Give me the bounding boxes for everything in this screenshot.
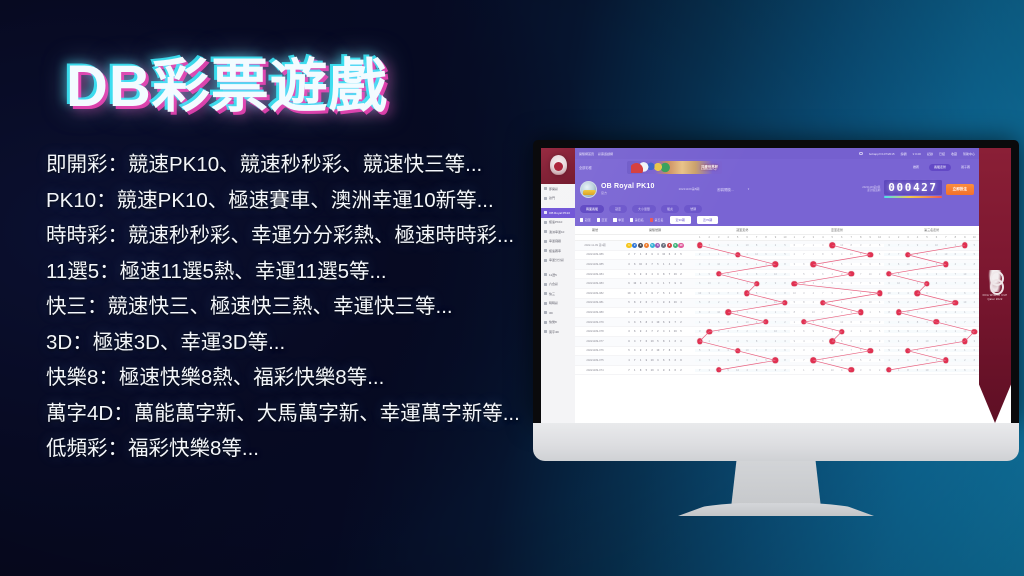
checkbox-icon [597, 218, 600, 221]
trend-cell: 3 [837, 359, 846, 362]
nav-link-favorites[interactable]: 收藏 [951, 152, 957, 156]
monitor-bezel: 即開彩熱門OB Royal PK10極速PK10澳洲幸運10幸運飛艇極速賽車幸運… [533, 140, 1019, 423]
filter-checkbox-0[interactable]: 冠軍 [580, 218, 591, 222]
lottery-ball: 2 [644, 262, 649, 267]
subcolumn-header: 8 [856, 236, 865, 239]
lottery-ball: 4 [632, 339, 637, 344]
trend-cell: 1 [761, 340, 770, 343]
trend-cell: 2 [742, 330, 751, 333]
brand-logo-icon [550, 155, 567, 175]
list-item: 低頻彩：福彩快樂8等... [46, 439, 600, 460]
trend-cell: 4 [828, 273, 837, 276]
trend-cell: 4 [809, 292, 818, 295]
lottery-ball: 5 [661, 291, 666, 296]
trend-hit-marker: 3 [951, 301, 960, 304]
trend-cell: 3 [875, 340, 884, 343]
lottery-ball: 7 [638, 339, 643, 344]
trend-cell: 5 [837, 340, 846, 343]
trend-cell: 7 [704, 359, 713, 362]
trend-table[interactable]: 期號 開獎號碼 冠軍走勢 亞軍走勢 第三名走勢 12345678910 1234… [575, 226, 979, 423]
trend-cell: 9 [771, 282, 780, 285]
trend-cell: 10 [903, 263, 912, 266]
lottery-ball: 2 [638, 300, 643, 305]
sidebar-brand[interactable] [541, 148, 575, 184]
top-navigation-bar[interactable]: 開獎網首頁 彩票遊戲網 bobapp7c107/2015 餘額 ¥ 0.00 記… [575, 148, 979, 159]
trend-cell: 8 [780, 282, 789, 285]
sidebar-item-label: 極速PK10 [549, 220, 562, 224]
sidebar-item-13[interactable]: 快樂8 [541, 318, 575, 328]
filter-checkbox-4[interactable]: 第五名 [650, 218, 664, 222]
lottery-ball: 1 [667, 339, 672, 344]
sidebar-item-label: 快三 [549, 292, 555, 296]
trend-cell: 8 [818, 253, 827, 256]
trend-cell: 9 [723, 244, 732, 247]
sidebar-item-label: 熱門 [549, 196, 555, 200]
table-row[interactable]: 20221109-0862718941063527189410635271894… [575, 251, 979, 261]
lottery-ball: 1 [667, 329, 672, 334]
trend-cell: 5 [932, 263, 941, 266]
trend-cell: 10 [828, 369, 837, 372]
trend-cell: 10 [733, 359, 742, 362]
trend-cell: 10 [799, 282, 808, 285]
sidebar-item-12[interactable]: 3D [541, 308, 575, 318]
cell-draw-numbers: 27189410635 [615, 252, 695, 257]
table-row[interactable]: 20221109-0853610275149836102751498361027… [575, 260, 979, 270]
trend-cell: 5 [828, 282, 837, 285]
trend-cell: 5 [780, 244, 789, 247]
sidebar-item-3[interactable]: 極速PK10 [541, 218, 575, 228]
game-name: OB Royal PK10 [601, 183, 655, 190]
cell-period: 20221109-085 [575, 263, 615, 266]
trend-cell: 2 [970, 273, 979, 276]
nav-link-record[interactable]: 記錄 [927, 152, 933, 156]
lottery-ball: 6 [661, 319, 666, 324]
worldcup-side-banner[interactable]: FIFA WORLD CUP Qatar 2022 [979, 148, 1011, 423]
cell-period: 20221109-079 [575, 321, 615, 324]
trend-cell: 7 [723, 292, 732, 295]
trend-cell: 9 [913, 244, 922, 247]
column-header-group-3: 第三名走勢 [884, 228, 979, 232]
sidebar-item-9[interactable]: 六合彩 [541, 280, 575, 290]
tab-dragon-trend[interactable]: 長龍走勢 [929, 164, 951, 171]
sidebar-item-11[interactable]: 時時彩 [541, 299, 575, 309]
subcolumn-header: 1 [790, 236, 799, 239]
lottery-ball: 6 [661, 358, 666, 363]
sidebar-item-7[interactable]: 幸運分分彩 [541, 256, 575, 266]
trend-group-0: 53942107816 [695, 349, 790, 352]
position-filter-row[interactable]: 冠軍亞軍季軍第四名第五名近30期近70期 [575, 214, 979, 226]
column-header-numbers: 開獎號碼 [615, 228, 695, 232]
nav-link-help[interactable]: 幫助中心 [963, 152, 975, 156]
sidebar-item-4[interactable]: 澳洲幸運10 [541, 227, 575, 237]
trend-cell: 8 [856, 349, 865, 352]
trend-cell: 5 [951, 359, 960, 362]
trend-group-2: 27189410635 [884, 253, 979, 256]
app-sidebar[interactable]: 即開彩熱門OB Royal PK10極速PK10澳洲幸運10幸運飛艇極速賽車幸運… [541, 148, 575, 423]
trend-hit-marker: 8 [846, 273, 855, 276]
trend-cell: 6 [723, 340, 732, 343]
lottery-ball: 2 [678, 271, 683, 276]
lottery-ball: 6 [644, 271, 649, 276]
trend-hit-marker: 8 [714, 369, 723, 372]
tab-recommend[interactable]: 推薦 [908, 164, 924, 171]
trend-cell: 5 [790, 301, 799, 304]
trend-cell: 4 [742, 282, 751, 285]
column-header-group-1: 冠軍走勢 [695, 228, 790, 232]
trend-cell: 6 [695, 282, 704, 285]
table-row[interactable]: 20221109-0815826719310458267193104582671… [575, 299, 979, 309]
cell-period: 20221109-075 [575, 359, 615, 362]
trend-hit-marker: 8 [875, 292, 884, 295]
trend-cell: 5 [970, 311, 979, 314]
sidebar-item-icon [544, 273, 547, 276]
all-games-menu[interactable]: 全部彩種 [579, 165, 592, 170]
subheader-group-3: 12345678910 [884, 236, 979, 239]
trend-cell: 4 [951, 311, 960, 314]
filter-checkbox-3[interactable]: 第四名 [630, 218, 644, 222]
trend-cell: 10 [742, 321, 751, 324]
sidebar-item-6[interactable]: 極速賽車 [541, 246, 575, 256]
trend-cell: 5 [970, 244, 979, 247]
sidebar-item-label: 幸運分分彩 [549, 258, 564, 262]
cell-draw-numbers: 94761058123 [615, 339, 695, 344]
lottery-ball: 6 [644, 339, 649, 344]
trend-cell: 10 [714, 311, 723, 314]
trend-cell: 1 [846, 282, 855, 285]
sidebar-item-14[interactable]: 萬字4D [541, 327, 575, 337]
trend-cell: 3 [761, 369, 770, 372]
trend-cell: 3 [695, 330, 704, 333]
lottery-ball: 10 [673, 329, 678, 334]
sidebar-item-list[interactable]: 即開彩熱門OB Royal PK10極速PK10澳洲幸運10幸運飛艇極速賽車幸運… [541, 184, 575, 337]
promo-tabs[interactable]: 推薦 長龍走勢 親子賽 [908, 164, 975, 171]
sidebar-item-label: 11選5 [549, 273, 557, 277]
trend-cell: 10 [922, 359, 931, 362]
table-row[interactable]: 20221109-0791358410697213584106972135841… [575, 318, 979, 328]
trend-cell: 6 [752, 359, 761, 362]
sidebar-item-icon [544, 292, 547, 295]
trend-cell: 6 [865, 369, 874, 372]
trend-cell: 1 [790, 273, 799, 276]
trend-cell: 3 [884, 263, 893, 266]
trend-cell: 1 [960, 349, 969, 352]
sidebar-item-label: 即開彩 [549, 187, 558, 191]
trend-cell: 7 [828, 263, 837, 266]
lottery-ball: 3 [655, 310, 660, 315]
trend-cell: 4 [742, 253, 751, 256]
lottery-ball: 1 [661, 281, 666, 286]
sidebar-item-label: 極速賽車 [549, 249, 561, 253]
lottery-ball: 3 [655, 358, 660, 363]
trend-cell: 5 [875, 330, 884, 333]
lottery-ball: 10 [655, 348, 660, 353]
subcolumn-header: 10 [780, 236, 789, 239]
trend-cell: 5 [875, 244, 884, 247]
lottery-ball: 7 [632, 252, 637, 257]
trend-hit-marker: 2 [894, 311, 903, 314]
cell-draw-numbers: 71851049362 [615, 367, 695, 372]
subcolumn-header: 9 [960, 236, 969, 239]
trend-cell: 9 [941, 311, 950, 314]
trend-group-2: 13584106972 [884, 321, 979, 324]
trend-cell: 3 [951, 244, 960, 247]
lottery-ball: 8 [667, 348, 672, 353]
nav-link-home[interactable]: 開獎網首頁 [579, 152, 594, 156]
sidebar-item-8[interactable]: 11選5 [541, 270, 575, 280]
trend-cell: 8 [941, 340, 950, 343]
lottery-ball: 4 [650, 271, 655, 276]
trend-cell: 10 [941, 253, 950, 256]
table-row[interactable]: 20221109-0765394210781653942107816539421… [575, 347, 979, 357]
trend-cell: 9 [865, 263, 874, 266]
lottery-ball: 9 [661, 300, 666, 305]
cell-period: 20221109-082 [575, 292, 615, 295]
trend-cell: 5 [695, 301, 704, 304]
trend-hit-marker: 1 [865, 349, 874, 352]
lottery-ball: 9 [667, 319, 672, 324]
sidebar-item-5[interactable]: 幸運飛艇 [541, 237, 575, 247]
trend-cell: 2 [922, 349, 931, 352]
filter-pill-4[interactable]: 號碼 [684, 205, 702, 213]
table-row[interactable]: 20221109-0747185104936271851049362718510… [575, 366, 979, 376]
trend-group-1: 27189410635 [790, 253, 885, 256]
trend-cell: 3 [960, 253, 969, 256]
trend-cell: 2 [714, 301, 723, 304]
cell-draw-numbers: 36947241105 [615, 329, 695, 334]
trend-cell: 2 [828, 349, 837, 352]
table-row[interactable]: 20221109-0783694724110536947241105369472… [575, 327, 979, 337]
table-row[interactable]: 20221109-0779476105812394761058123947610… [575, 337, 979, 347]
filter-checkbox-label: 第四名 [635, 218, 644, 222]
trend-cell: 7 [799, 244, 808, 247]
trend-cell: 5 [742, 340, 751, 343]
promo-bar[interactable]: 全部彩種 共慶世界杯 FIFA World Cup 推薦 長龍走勢 親子賽 [575, 159, 979, 175]
trend-group-0: 71851049362 [695, 369, 790, 372]
trend-cell: 4 [922, 273, 931, 276]
trend-cell: 6 [913, 273, 922, 276]
trend-cell: 1 [704, 369, 713, 372]
filter-checkbox-2[interactable]: 季軍 [613, 218, 624, 222]
trend-cell: 9 [809, 273, 818, 276]
trend-hit-marker: 2 [837, 330, 846, 333]
topbar-links[interactable]: 開獎網首頁 彩票遊戲網 [579, 152, 613, 156]
trend-cell: 10 [752, 253, 761, 256]
countdown-timer: 000427 [884, 180, 941, 198]
trend-hit-marker: 9 [846, 369, 855, 372]
sidebar-item-0[interactable]: 即開彩 [541, 184, 575, 194]
bet-now-button[interactable]: 立即投注 [946, 184, 974, 195]
trend-group-0: 36102751498 [695, 263, 790, 266]
lottery-ball: 4 [667, 310, 672, 315]
trend-group-0: 15964387102 [695, 273, 790, 276]
trend-cell: 10 [865, 301, 874, 304]
lottery-ball: 3 [638, 243, 643, 248]
trend-cell: 6 [960, 292, 969, 295]
lottery-ball: 9 [626, 339, 631, 344]
sidebar-item-label: 時時彩 [549, 301, 558, 305]
trend-cell: 10 [704, 282, 713, 285]
trend-cell: 10 [733, 369, 742, 372]
trend-cell: 3 [704, 292, 713, 295]
trend-cell: 4 [875, 301, 884, 304]
subcolumn-header: 5 [733, 236, 742, 239]
trend-cell: 1 [894, 369, 903, 372]
trend-cell: 7 [846, 349, 855, 352]
lottery-ball: 7 [661, 243, 666, 248]
lottery-ball: 9 [638, 329, 643, 334]
trend-cell: 9 [723, 359, 732, 362]
bet-type-filter-row[interactable]: 兩面長龍冠亞大小單雙龍虎號碼 [575, 203, 979, 214]
lottery-ball: 1 [673, 348, 678, 353]
trend-cell: 7 [733, 263, 742, 266]
trend-cell: 3 [837, 273, 846, 276]
trend-cell: 8 [875, 263, 884, 266]
trend-cell: 8 [704, 301, 713, 304]
lottery-ball: 5 [667, 358, 672, 363]
lottery-ball: 10 [650, 358, 655, 363]
nav-link-settled[interactable]: 已結 [939, 152, 945, 156]
table-row[interactable]: 20221109-0754719103652847191036528471910… [575, 356, 979, 366]
trend-cell: 8 [970, 292, 979, 295]
trend-cell: 8 [846, 340, 855, 343]
filter-pill-0[interactable]: 兩面長龍 [580, 205, 604, 213]
lottery-ball: 7 [655, 291, 660, 296]
trend-group-0: 36947241105 [695, 330, 790, 333]
trend-group-0: 82107639415 [695, 311, 790, 314]
trend-cell: 4 [884, 359, 893, 362]
lottery-ball: 1 [626, 319, 631, 324]
trend-cell: 1 [932, 301, 941, 304]
sidebar-item-label: 澳洲幸運10 [549, 230, 564, 234]
filter-checkbox-label: 冠軍 [585, 218, 591, 222]
trend-group-1: 94761058123 [790, 340, 885, 343]
cell-period: 20221109-077 [575, 340, 615, 343]
trend-cell: 7 [828, 330, 837, 333]
trend-cell: 8 [846, 244, 855, 247]
trend-cell: 2 [960, 359, 969, 362]
filter-checkbox-1[interactable]: 亞軍 [597, 218, 608, 222]
trend-cell: 2 [771, 340, 780, 343]
lottery-ball: 5 [678, 329, 683, 334]
trend-cell: 1 [960, 311, 969, 314]
world-cup-trophy-icon [987, 270, 1003, 292]
trend-cell: 1 [714, 244, 723, 247]
subcolumn-header: 1 [695, 236, 704, 239]
cell-draw-numbers: 58267193104 [615, 300, 695, 305]
nav-link-games[interactable]: 彩票遊戲網 [598, 152, 613, 156]
trend-cell: 1 [903, 359, 912, 362]
trend-cell: 1 [846, 263, 855, 266]
trend-cell: 8 [970, 282, 979, 285]
table-row[interactable]: 20221109-0836103254179861032541798610325… [575, 279, 979, 289]
trend-cell: 7 [818, 311, 827, 314]
list-item: 時時彩：競速秒秒彩、幸運分分彩熱、極速時時彩... [46, 226, 600, 247]
trend-cell: 2 [695, 253, 704, 256]
trend-group-2: 36947241105 [884, 330, 979, 333]
trend-cell: 10 [960, 301, 969, 304]
trend-cell: 2 [865, 359, 874, 362]
trend-cell: 6 [884, 282, 893, 285]
trend-cell: 4 [846, 330, 855, 333]
trend-cell: 5 [932, 340, 941, 343]
subcolumn-header: 7 [941, 236, 950, 239]
sidebar-item-10[interactable]: 快三 [541, 289, 575, 299]
lottery-ball: 6 [673, 291, 678, 296]
trend-cell: 2 [875, 369, 884, 372]
lottery-ball: 1 [655, 300, 660, 305]
list-item: 快樂8：極速快樂8熱、福彩快樂8等... [46, 368, 600, 389]
trend-cell: 10 [922, 340, 931, 343]
tab-parent-race[interactable]: 親子賽 [956, 164, 975, 171]
trend-cell: 3 [894, 292, 903, 295]
sidebar-item-icon [544, 311, 547, 314]
table-row[interactable]: 20221109-0841596438710215964387102159643… [575, 270, 979, 280]
trend-group-1: 58267193104 [790, 301, 885, 304]
trend-cell: 4 [704, 340, 713, 343]
balance-label: 餘額 [901, 152, 907, 156]
trend-cell: 10 [771, 330, 780, 333]
cell-period: 20221109-084 [575, 273, 615, 276]
range-button-1[interactable]: 近70期 [697, 216, 718, 224]
trend-cell: 2 [903, 301, 912, 304]
trend-cell: 10 [932, 349, 941, 352]
chevron-down-icon[interactable]: ▾ [748, 187, 750, 191]
sidebar-item-2[interactable]: OB Royal PK10 [541, 208, 575, 218]
filter-pill-2[interactable]: 大小單雙 [632, 205, 656, 213]
trend-cell: 4 [733, 273, 742, 276]
trend-cell: 2 [723, 263, 732, 266]
trend-cell: 7 [828, 301, 837, 304]
range-button-0[interactable]: 近30期 [670, 216, 691, 224]
trend-cell: 10 [884, 292, 893, 295]
sidebar-item-icon [544, 302, 547, 305]
trend-hit-marker: 10 [809, 263, 818, 266]
filter-checkbox-label: 第五名 [655, 218, 664, 222]
trend-cell: 3 [742, 359, 751, 362]
trend-cell: 4 [799, 340, 808, 343]
trend-cell: 6 [846, 321, 855, 324]
trend-cell: 2 [809, 301, 818, 304]
trend-hit-marker: 1 [884, 273, 893, 276]
cell-period: 20221109-074 [575, 369, 615, 372]
table-row[interactable]: 20221109-0808210763941582107639415821076… [575, 308, 979, 318]
worldcup-promo-banner[interactable]: 共慶世界杯 FIFA World Cup [627, 161, 722, 174]
filter-pill-1[interactable]: 冠亞 [609, 205, 627, 213]
trend-cell: 4 [951, 263, 960, 266]
trend-group-2: 10347975168 [884, 292, 979, 295]
lottery-ball: 3 [678, 339, 683, 344]
topbar-account[interactable]: bobapp7c107/2015 餘額 ¥ 0.00 記錄 已結 收藏 幫助中心 [859, 152, 975, 156]
filter-pill-3[interactable]: 龍虎 [661, 205, 679, 213]
lottery-ball: 4 [644, 243, 649, 248]
trend-cell: 10 [846, 253, 855, 256]
trend-cell: 6 [723, 301, 732, 304]
table-body[interactable]: 2022-11-09 第1期12345678910671941083256719… [575, 241, 979, 375]
trend-cell: 10 [837, 244, 846, 247]
trend-hit-marker: 7 [884, 369, 893, 372]
page-title: DB彩票遊戲 [24, 56, 600, 117]
trend-cell: 6 [960, 369, 969, 372]
table-row[interactable]: 2022-11-09 第1期12345678910671941083256719… [575, 241, 979, 251]
trend-cell: 7 [704, 253, 713, 256]
sidebar-item-1[interactable]: 熱門 [541, 194, 575, 204]
subheader-group-2: 12345678910 [790, 236, 885, 239]
hero-text-panel: DB彩票遊戲 即開彩：競速PK10、競速秒秒彩、競速快三等... PK10：競速… [0, 0, 600, 576]
app-main: 開獎網首頁 彩票遊戲網 bobapp7c107/2015 餘額 ¥ 0.00 記… [575, 148, 979, 423]
filter-checkbox-label: 季軍 [618, 218, 624, 222]
trend-cell: 6 [790, 244, 799, 247]
table-row[interactable]: 20221109-0821034797516810347975168103479… [575, 289, 979, 299]
